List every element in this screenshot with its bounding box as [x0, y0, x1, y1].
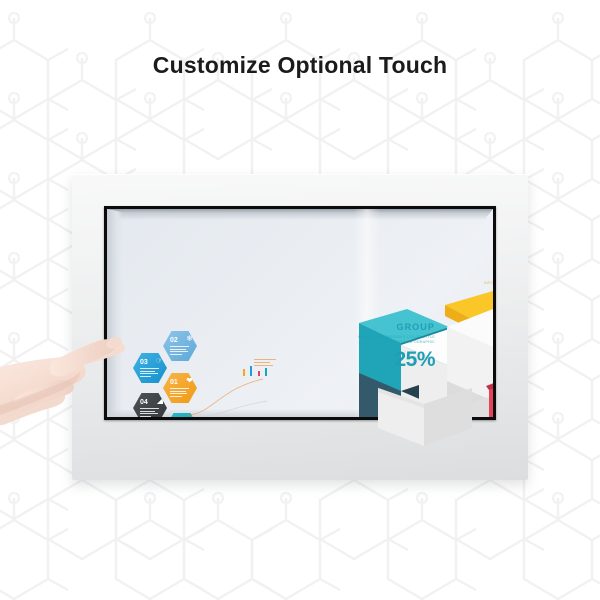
leaf-icon: ❄ — [186, 335, 193, 343]
group-subtitle-line2: STYLE INFOGRAPHIC — [479, 286, 493, 291]
cube-red — [485, 367, 493, 417]
group-title: GROUP — [479, 269, 493, 278]
group-label-teal: GROUP INFOGRAPHIC DESIGN & COLOR STYLE S… — [353, 323, 435, 370]
isometric-cube-chart: GROUP INFOGRAPHIC DESIGN & COLOR STYLE S… — [339, 271, 493, 417]
group-percent: 25% — [479, 295, 493, 316]
cube-white-bottom — [397, 375, 493, 417]
group-percent: 25% — [353, 349, 435, 370]
group-subtitle: INFOGRAPHIC DESIGN & COLOR STYLE STYLE I… — [479, 281, 493, 292]
group-title: GROUP — [353, 323, 435, 332]
group-label-yellow: GROUP INFOGRAPHIC DESIGN & COLOR STYLE S… — [479, 269, 493, 316]
group-subtitle: INFOGRAPHIC DESIGN & COLOR STYLE STYLE I… — [353, 335, 435, 346]
screenshot-canvas: Customize Optional Touch 02 ❄ — [0, 0, 600, 600]
page-title: Customize Optional Touch — [0, 52, 600, 79]
group-subtitle-line2: STYLE INFOGRAPHIC — [353, 340, 435, 345]
hand-pointing-finger — [0, 318, 178, 458]
connector-lines — [185, 367, 271, 417]
glass-edge-top — [107, 209, 493, 220]
